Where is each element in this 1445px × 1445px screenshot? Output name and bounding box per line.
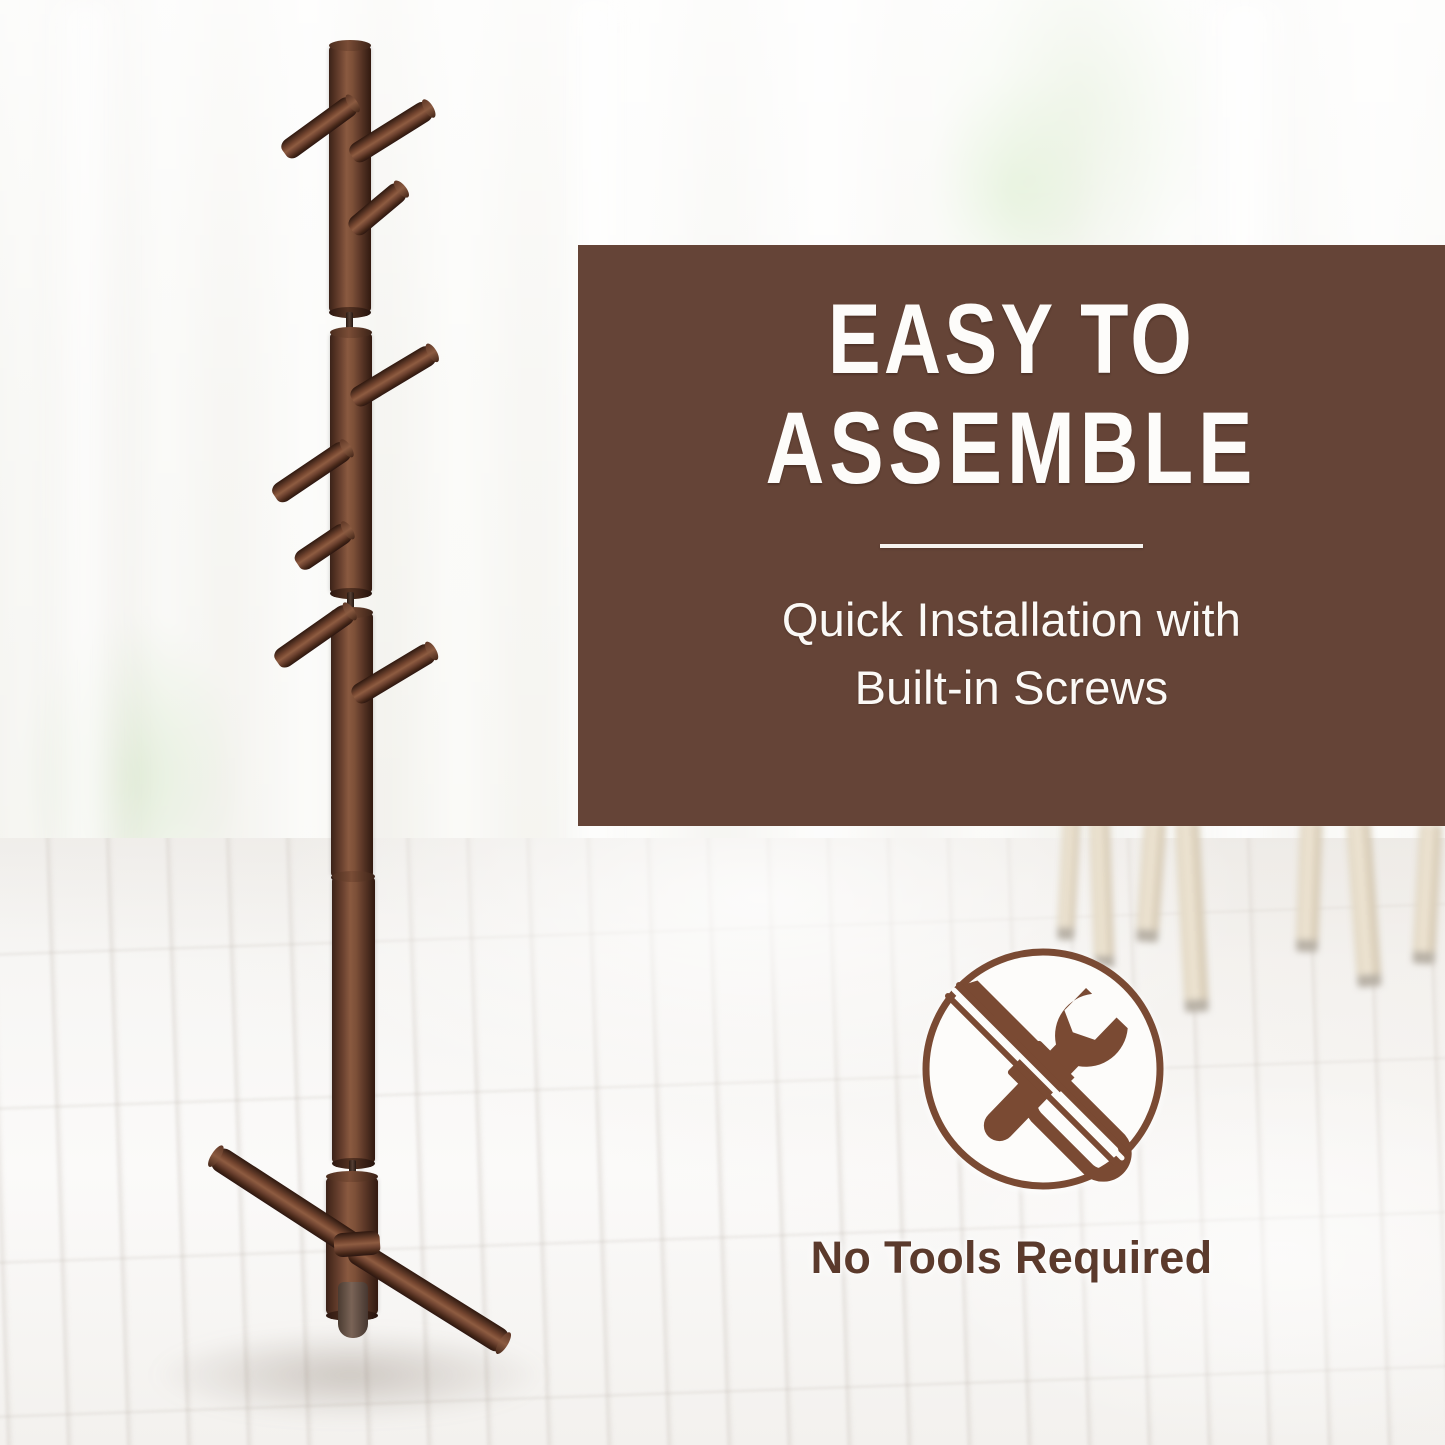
subline-line-1: Quick Installation with [782, 593, 1241, 646]
headline-line-1: EASY TO [828, 291, 1195, 387]
tree-coat-rack [0, 0, 560, 1445]
subline-line-2: Built-in Screws [855, 661, 1169, 714]
marketing-panel: EASY TO ASSEMBLE Quick Installation with… [578, 245, 1445, 826]
furniture-leg-5 [1296, 822, 1323, 953]
rack-segment-3 [331, 612, 373, 878]
no-tools-required-icon [918, 944, 1168, 1194]
rack-segment-1 [329, 45, 371, 313]
subline: Quick Installation with Built-in Screws [782, 586, 1241, 722]
badge-caption: No Tools Required [578, 1232, 1445, 1284]
rack-segment-4 [332, 876, 375, 1164]
product-banner: EASY TO ASSEMBLE Quick Installation with… [0, 0, 1445, 1445]
rack-base-leg-back [333, 1230, 381, 1257]
rack-center-foot [338, 1282, 368, 1338]
headline-divider [880, 544, 1143, 548]
headline-line-2: ASSEMBLE [766, 399, 1258, 498]
